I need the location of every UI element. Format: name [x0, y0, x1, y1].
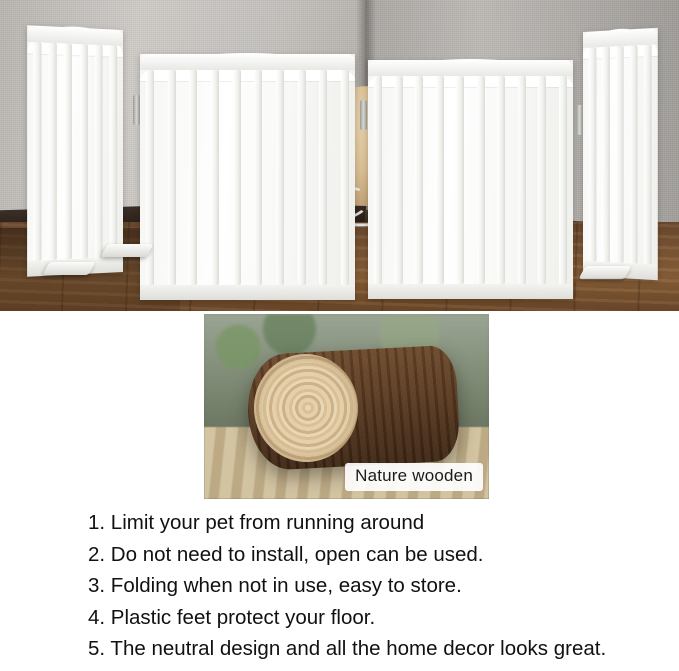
feature-list: 1. Limit your pet from running around 2.…: [0, 505, 679, 671]
gate-panel-2: [140, 54, 355, 300]
plastic-foot-left: [43, 262, 96, 275]
list-item: 5. The neutral design and all the home d…: [0, 639, 679, 660]
list-item: 2. Do not need to install, open can be u…: [0, 545, 679, 566]
panel-top-rail: [140, 54, 355, 70]
material-badge: Nature wooden: [345, 463, 483, 491]
gate-panel-3: [368, 60, 573, 299]
list-item: 4. Plastic feet protect your floor.: [0, 608, 679, 629]
material-inset-photo: Nature wooden: [201, 311, 492, 502]
plastic-foot-right: [579, 266, 632, 279]
gate-hinge-left: [133, 95, 140, 125]
panel-bottom-rail: [368, 284, 573, 299]
gate-panel-4: [583, 28, 658, 280]
product-photo: [0, 0, 679, 311]
gate-panel-1: [27, 25, 123, 277]
panel-top-rail: [368, 60, 573, 76]
panel-slats: [146, 70, 349, 285]
list-item: 1. Limit your pet from running around: [0, 513, 679, 534]
panel-slats: [374, 76, 567, 284]
panel-bottom-rail: [140, 285, 355, 300]
gate-hinge-center: [360, 100, 367, 130]
list-item: 3. Folding when not in use, easy to stor…: [0, 576, 679, 597]
gate-hinge-right: [576, 105, 583, 135]
panel-slats: [33, 42, 117, 261]
panel-slats: [589, 45, 652, 265]
plastic-foot-inner-left: [101, 244, 154, 257]
